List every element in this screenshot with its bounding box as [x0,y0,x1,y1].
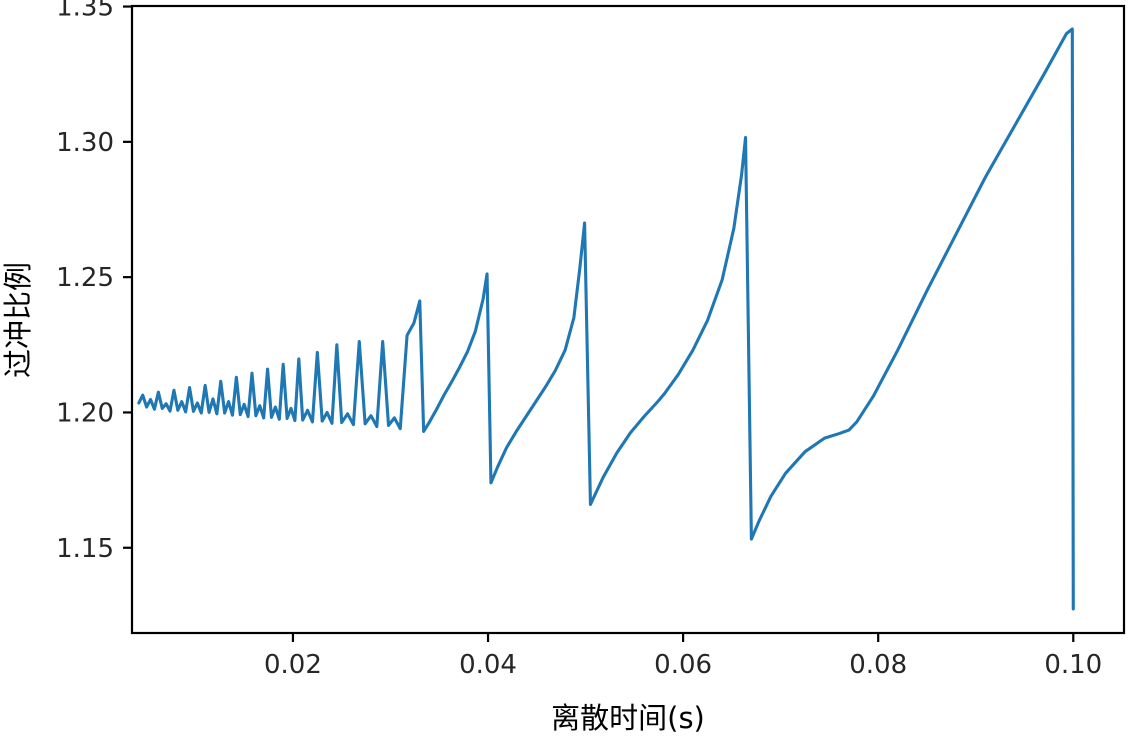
y-tick-label: 1.30 [56,128,114,158]
x-axis-label: 离散时间(s) [551,701,705,735]
x-tick-label: 0.08 [849,650,907,680]
figure-canvas: 0.020.040.060.080.10 1.151.201.251.301.3… [0,0,1130,738]
y-axis-label: 过冲比例 [1,262,35,378]
y-tick-label: 1.15 [56,534,114,564]
x-tick-label: 0.02 [264,650,322,680]
y-tick-label: 1.35 [56,0,114,23]
x-axis-ticks: 0.020.040.060.080.10 [264,633,1102,680]
x-tick-label: 0.04 [459,650,517,680]
y-tick-label: 1.25 [56,263,114,293]
y-axis-ticks: 1.151.201.251.301.35 [56,0,132,564]
x-tick-label: 0.06 [654,650,712,680]
plot-background [132,6,1124,633]
y-tick-label: 1.20 [56,398,114,428]
x-tick-label: 0.10 [1044,650,1102,680]
chart-plot: 0.020.040.060.080.10 1.151.201.251.301.3… [0,0,1130,738]
